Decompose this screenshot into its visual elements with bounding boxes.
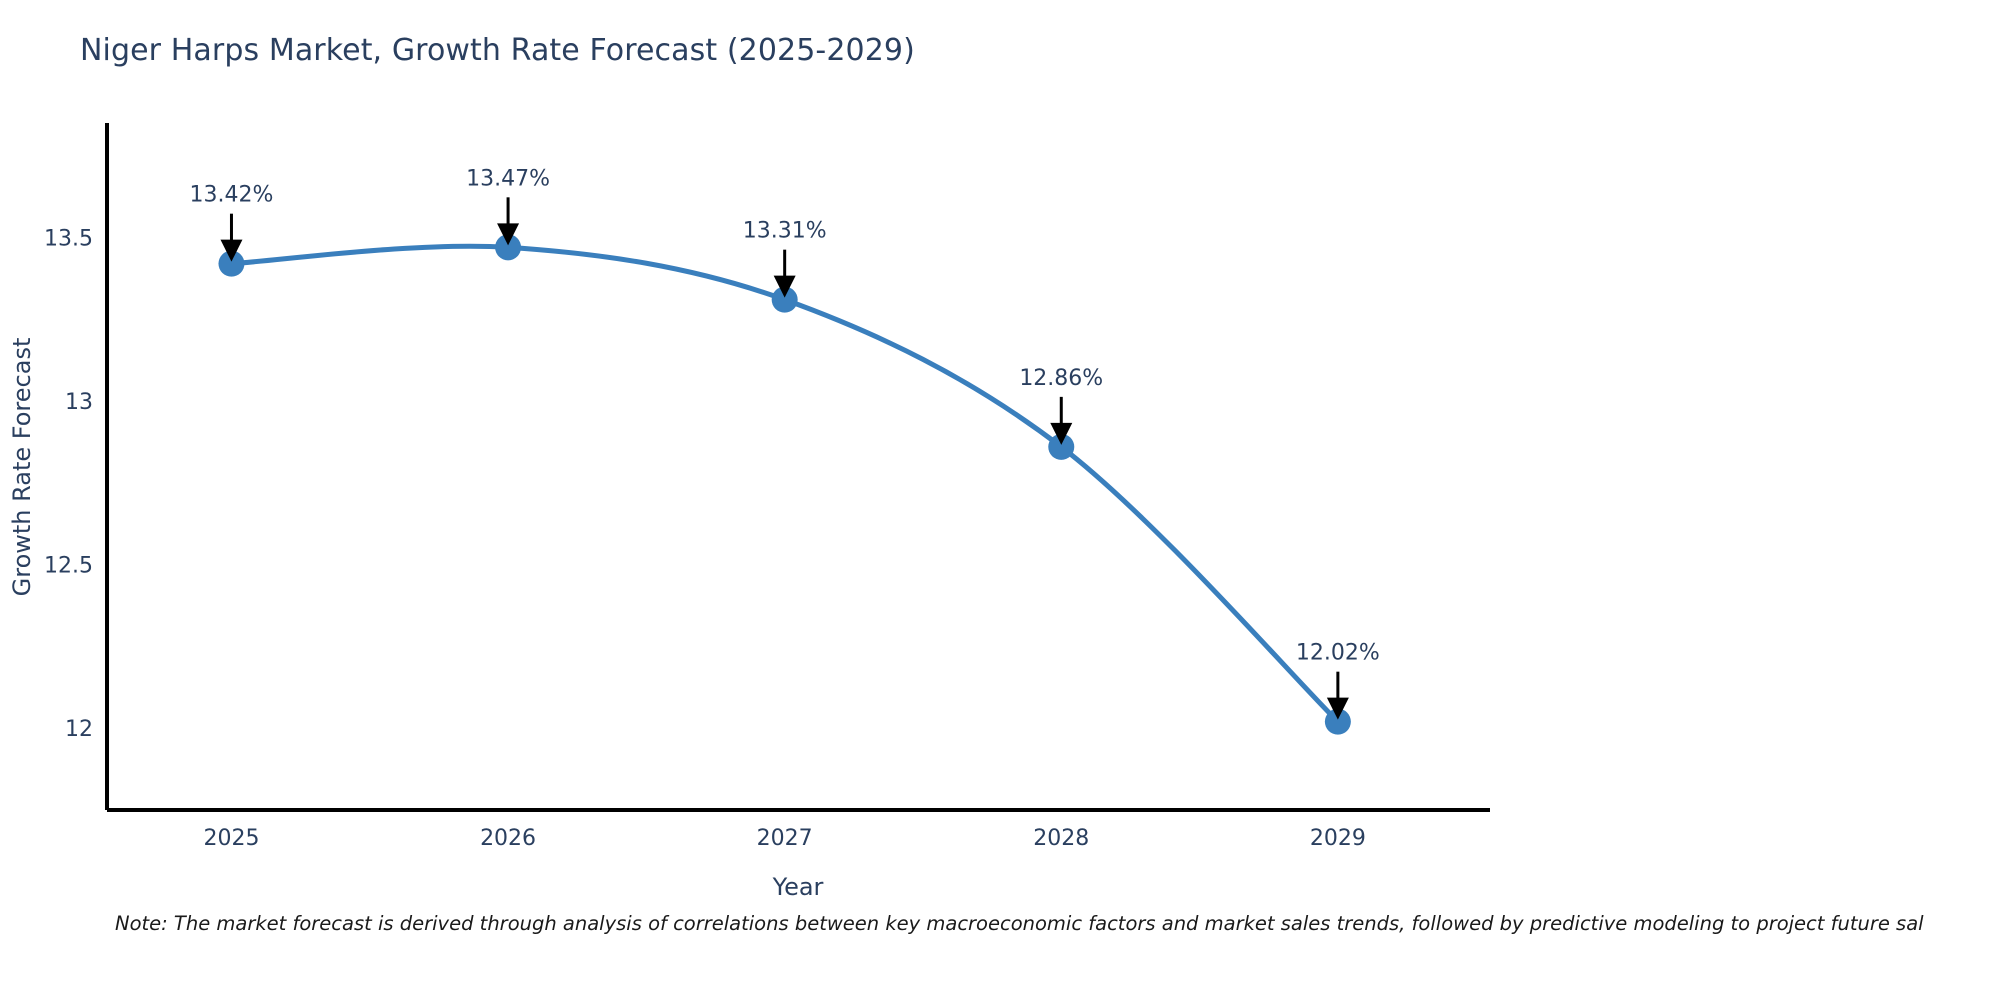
- x-tick-label: 2027: [757, 826, 813, 851]
- y-axis-tick-labels: 13.51312.512: [44, 227, 93, 743]
- data-point-markers: [218, 234, 1350, 734]
- x-axis-tick-labels: 20252026202720282029: [203, 826, 1365, 851]
- data-point-value-label: 12.86%: [1019, 366, 1103, 391]
- y-tick-label: 12.5: [44, 554, 93, 579]
- data-point-value-label: 13.31%: [743, 219, 827, 244]
- data-point-value-label: 13.47%: [466, 166, 550, 191]
- line-chart-plot: 13.51312.512 20252026202720282029 13.42%…: [0, 0, 2000, 1000]
- x-tick-label: 2029: [1310, 826, 1366, 851]
- y-tick-label: 13.5: [44, 227, 93, 252]
- y-axis-title: Growth Rate Forecast: [8, 338, 36, 597]
- x-axis-title: Year: [772, 873, 824, 901]
- chart-figure: Niger Harps Market, Growth Rate Forecast…: [0, 0, 2000, 1000]
- x-tick-label: 2025: [203, 826, 259, 851]
- data-point-value-label: 13.42%: [190, 183, 274, 208]
- data-point-value-label: 12.02%: [1296, 641, 1380, 666]
- footnote-text: Note: The market forecast is derived thr…: [115, 912, 1924, 935]
- x-tick-label: 2026: [480, 826, 536, 851]
- data-series-line: [231, 246, 1337, 721]
- y-tick-label: 12: [65, 717, 93, 742]
- y-tick-label: 13: [65, 390, 93, 415]
- x-tick-label: 2028: [1033, 826, 1089, 851]
